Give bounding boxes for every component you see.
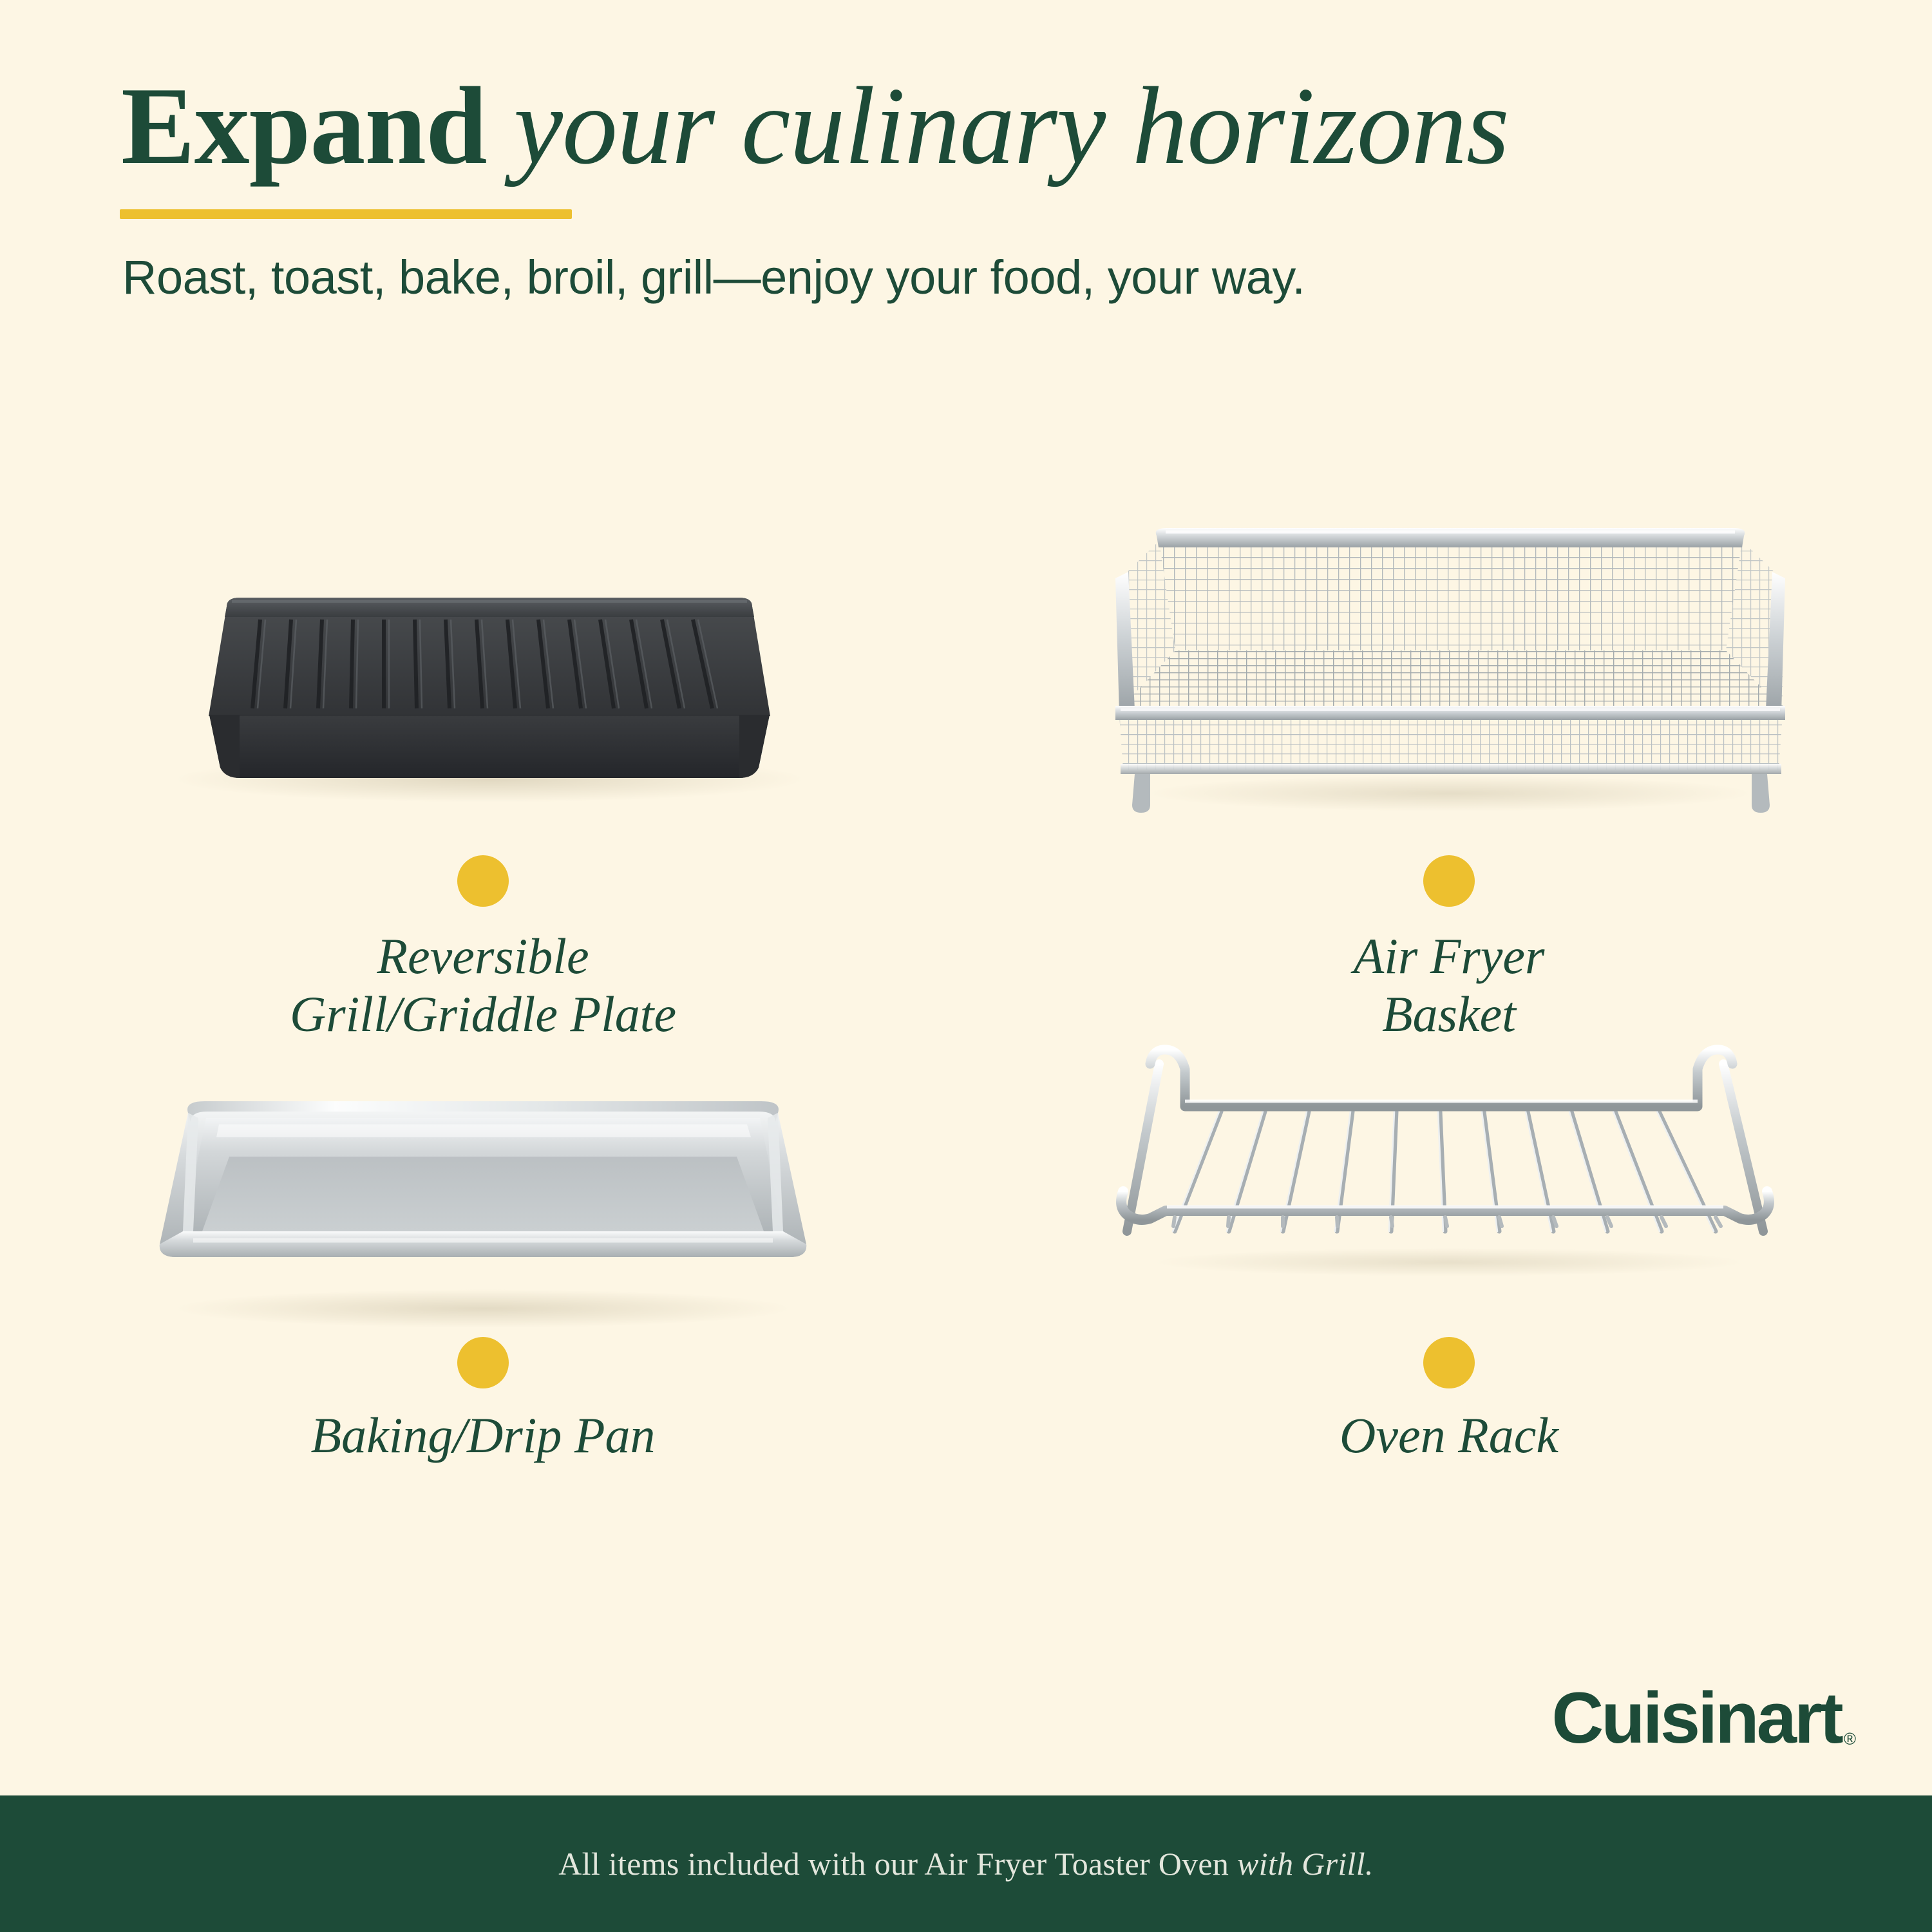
registered-trademark-icon: ® bbox=[1844, 1729, 1856, 1749]
baking-drip-pan-image bbox=[0, 1005, 966, 1340]
product-label-line1: Reversible bbox=[0, 927, 966, 985]
headline-strong: Expand bbox=[121, 71, 487, 182]
product-cell-air-fryer-basket: Air Fryer Basket bbox=[966, 502, 1932, 1069]
oven-rack-image bbox=[966, 1005, 1932, 1340]
footer-text-italic: with Grill. bbox=[1237, 1846, 1374, 1882]
page-title: Expand your culinary horizons bbox=[121, 71, 1509, 182]
bullet-dot bbox=[1423, 1337, 1475, 1388]
headline-underline-accent bbox=[120, 209, 572, 219]
product-label-line1: Baking/Drip Pan bbox=[0, 1406, 966, 1464]
bullet-dot bbox=[457, 1337, 509, 1388]
product-grid: Reversible Grill/Griddle Plate bbox=[0, 502, 1932, 1636]
air-fryer-basket-image bbox=[966, 502, 1932, 837]
product-label: Baking/Drip Pan bbox=[0, 1406, 966, 1464]
product-label: Oven Rack bbox=[966, 1406, 1932, 1464]
product-label-line1: Oven Rack bbox=[966, 1406, 1932, 1464]
product-cell-oven-rack: Oven Rack bbox=[966, 1069, 1932, 1636]
footer-bar: All items included with our Air Fryer To… bbox=[0, 1795, 1932, 1932]
footer-disclaimer: All items included with our Air Fryer To… bbox=[558, 1845, 1373, 1882]
cuisinart-logo: Cuisinart ® bbox=[1551, 1682, 1856, 1754]
product-cell-grill-griddle-plate: Reversible Grill/Griddle Plate bbox=[0, 502, 966, 1069]
grill-griddle-plate-image bbox=[0, 502, 966, 837]
product-cell-baking-drip-pan: Baking/Drip Pan bbox=[0, 1069, 966, 1636]
brand-wordmark: Cuisinart bbox=[1551, 1682, 1841, 1754]
headline-italic: your culinary horizons bbox=[487, 65, 1509, 187]
bullet-dot bbox=[1423, 855, 1475, 907]
product-label-line1: Air Fryer bbox=[966, 927, 1932, 985]
bullet-dot bbox=[457, 855, 509, 907]
footer-text-plain: All items included with our Air Fryer To… bbox=[558, 1846, 1237, 1882]
subheadline: Roast, toast, bake, broil, grill—enjoy y… bbox=[122, 250, 1305, 305]
